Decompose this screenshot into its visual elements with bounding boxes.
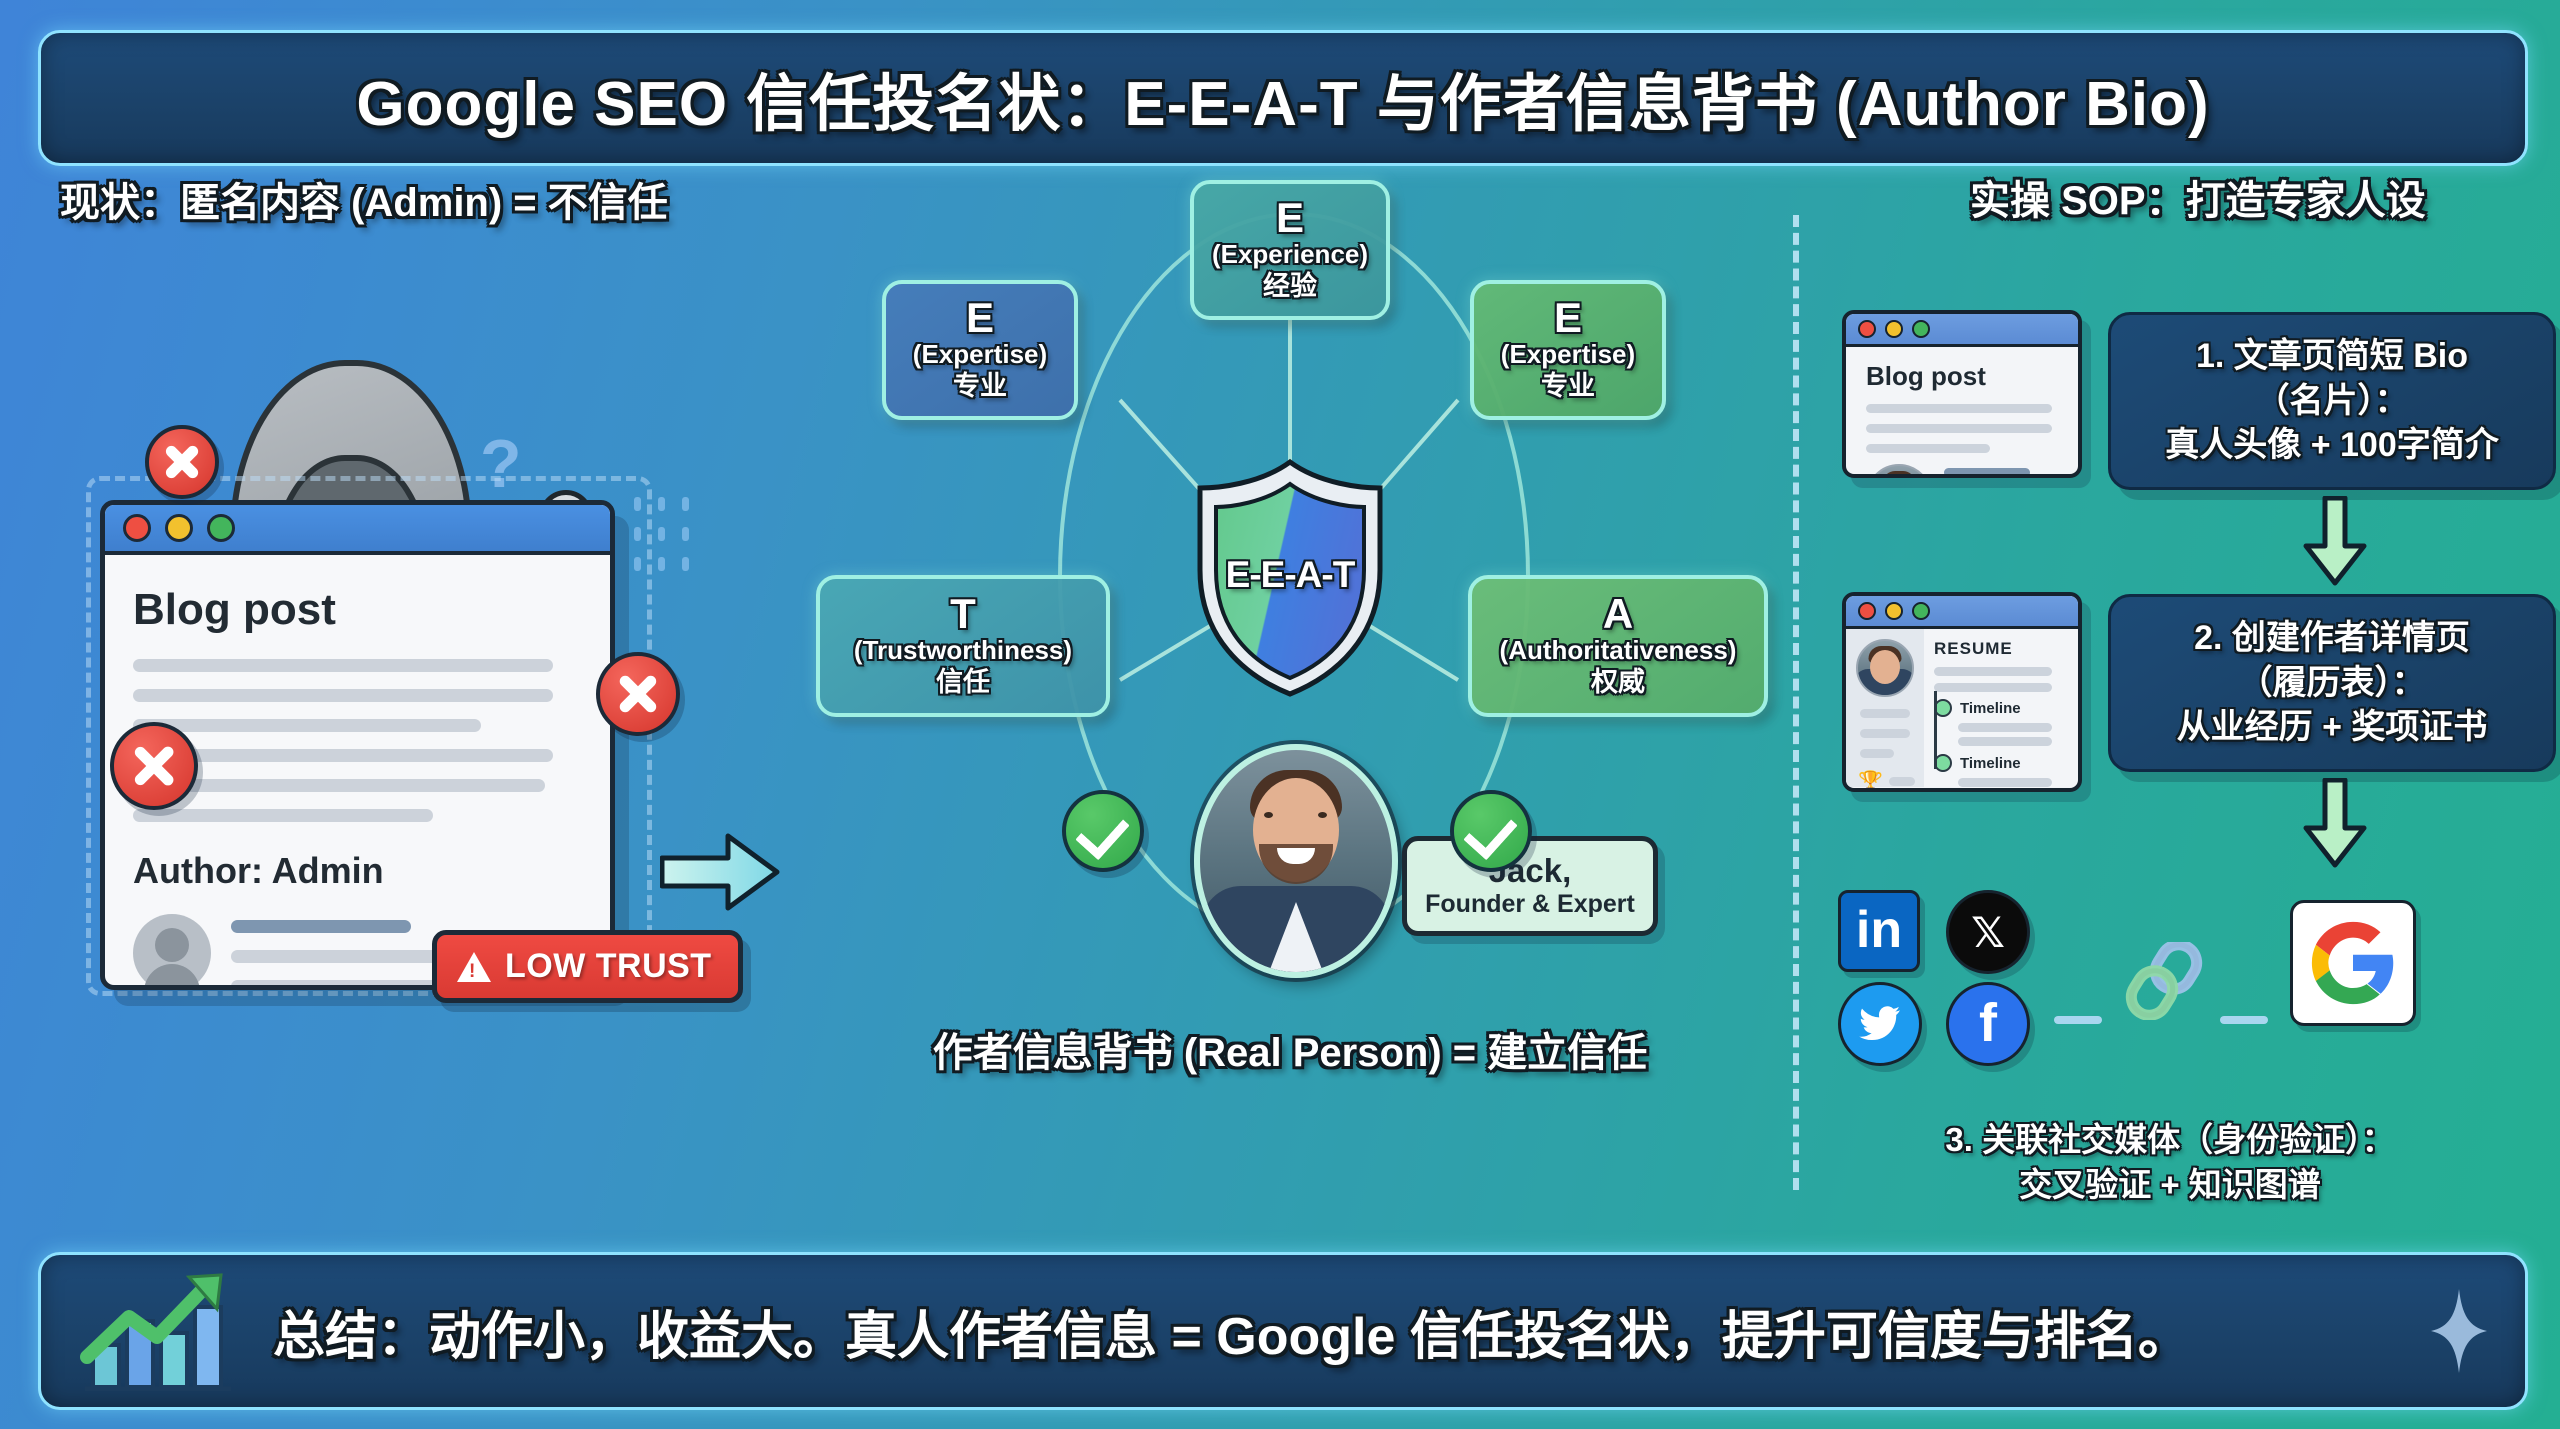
- mock-blog-post-window[interactable]: Blog post: [1842, 310, 2082, 478]
- blog-body-lines: [133, 659, 610, 822]
- dash-connector: [2220, 1016, 2268, 1024]
- sop-step-line: 2. 创建作者详情页: [2194, 616, 2470, 661]
- window-minimize-dot[interactable]: [1885, 602, 1903, 620]
- window-minimize-dot[interactable]: [165, 514, 193, 542]
- sop-step-line: （名片）：: [2256, 379, 2409, 424]
- window-maximize-dot[interactable]: [207, 514, 235, 542]
- dash-connector: [2054, 1016, 2102, 1024]
- linkedin-icon[interactable]: in: [1838, 890, 1920, 972]
- twitter-icon[interactable]: [1838, 982, 1922, 1066]
- node-cn-label: 经验: [1263, 270, 1317, 302]
- growth-chart-icon: [71, 1271, 241, 1391]
- sparkle-icon: [2431, 1289, 2487, 1373]
- right-section-heading: 实操 SOP：打造专家人设: [1970, 168, 2426, 226]
- author-name: Jack,: [1417, 853, 1643, 889]
- sop-step-line: 3. 关联社交媒体（身份验证）：: [1800, 1118, 2540, 1163]
- sop-step-line: （履历表）：: [2239, 661, 2426, 706]
- x-label: 𝕏: [1971, 908, 2005, 957]
- node-expertise-right[interactable]: E (Expertise) 专业: [1470, 280, 1666, 420]
- sop-step-1[interactable]: 1. 文章页简短 Bio （名片）： 真人头像 + 100字简介: [2108, 312, 2556, 490]
- left-panel-current-state: 现状：匿名内容 (Admin) = 不信任 ? ?: [0, 190, 790, 1200]
- node-en-label: (Expertise): [913, 340, 1047, 370]
- node-en-label: (Expertise): [1501, 340, 1635, 370]
- arrow-down-icon: [2300, 778, 2370, 868]
- arrow-right-icon: [660, 830, 780, 914]
- arrow-down-icon: [2300, 496, 2370, 586]
- sop-step-line: 真人头像 + 100字简介: [2165, 423, 2498, 468]
- window-titlebar: [1846, 596, 2078, 629]
- status-badge-low-trust: LOW TRUST: [432, 930, 743, 1003]
- node-cn-label: 权威: [1591, 666, 1645, 698]
- center-panel-eeat-diagram: E (Experience) 经验 E (Expertise) 专业 E (Ex…: [790, 190, 1790, 1200]
- sop-step-2[interactable]: 2. 创建作者详情页 （履历表）： 从业经历 + 奖项证书: [2108, 594, 2556, 772]
- window-minimize-dot[interactable]: [1885, 320, 1903, 338]
- check-mark-icon: [1062, 790, 1144, 872]
- node-letter: A: [1603, 593, 1633, 636]
- node-cn-label: 专业: [1541, 370, 1595, 402]
- sop-step-line: 1. 文章页简短 Bio: [2196, 334, 2468, 379]
- shield-icon: E-E-A-T: [1190, 458, 1390, 698]
- window-titlebar: [1846, 314, 2078, 347]
- linkedin-label: in: [1856, 910, 1902, 952]
- warning-triangle-icon: [457, 952, 491, 982]
- author-role: Founder & Expert: [1417, 889, 1643, 919]
- node-letter: E: [1276, 197, 1304, 240]
- timeline-label: Timeline: [1960, 755, 2021, 772]
- left-section-heading: 现状：匿名内容 (Admin) = 不信任: [60, 170, 668, 228]
- google-icon[interactable]: [2290, 900, 2416, 1026]
- window-close-dot[interactable]: [123, 514, 151, 542]
- shield-label: E-E-A-T: [1190, 554, 1390, 596]
- window-close-dot[interactable]: [1858, 602, 1876, 620]
- summary-bar: 总结：动作小，收益大。真人作者信息 = Google 信任投名状，提升可信度与排…: [38, 1252, 2528, 1410]
- mock-author-avatar: [1866, 464, 1932, 478]
- x-mark-icon: [110, 722, 198, 810]
- sop-step-3: 3. 关联社交媒体（身份验证）： 交叉验证 + 知识图谱: [1800, 1118, 2540, 1207]
- node-experience[interactable]: E (Experience) 经验: [1190, 180, 1390, 320]
- sop-step-line: 从业经历 + 奖项证书: [2177, 705, 2488, 750]
- page-title: Google SEO 信任投名状：E-E-A-T 与作者信息背书 (Author…: [356, 53, 2209, 143]
- avatar: [133, 914, 211, 990]
- right-panel-sop: 实操 SOP：打造专家人设 Blog post 1. 文章页简短: [1800, 190, 2560, 1200]
- node-letter: E: [966, 297, 994, 340]
- mock-window-title: Blog post: [1866, 361, 2078, 392]
- mock-resume-avatar: [1856, 639, 1914, 697]
- mock-resume-window[interactable]: 🏆 🎖 RESUME Timeline: [1842, 592, 2082, 792]
- node-en-label: (Authoritativeness): [1500, 636, 1737, 666]
- window-maximize-dot[interactable]: [1912, 602, 1930, 620]
- blog-post-title: Blog post: [133, 585, 610, 635]
- blog-author-label: Author: Admin: [133, 850, 610, 892]
- author-name-card: Jack, Founder & Expert: [1402, 836, 1658, 936]
- resume-title: RESUME: [1934, 639, 2070, 659]
- panel-divider: [1793, 215, 1799, 1190]
- x-mark-icon: [145, 425, 219, 499]
- node-expertise-left[interactable]: E (Expertise) 专业: [882, 280, 1078, 420]
- node-authoritativeness[interactable]: A (Authoritativeness) 权威: [1468, 575, 1768, 717]
- trophy-icon: 🏆: [1858, 769, 1883, 792]
- node-en-label: (Trustworthiness): [854, 636, 1072, 666]
- sop-step-line: 交叉验证 + 知识图谱: [1800, 1163, 2540, 1208]
- title-banner: Google SEO 信任投名状：E-E-A-T 与作者信息背书 (Author…: [38, 30, 2528, 166]
- x-icon[interactable]: 𝕏: [1946, 890, 2030, 974]
- facebook-icon[interactable]: f: [1946, 982, 2030, 1066]
- check-mark-icon: [1450, 790, 1532, 872]
- timeline-label: Timeline: [1960, 700, 2021, 717]
- node-letter: E: [1554, 297, 1582, 340]
- node-letter: T: [950, 593, 976, 636]
- node-cn-label: 信任: [936, 666, 990, 698]
- summary-text: 总结：动作小，收益大。真人作者信息 = Google 信任投名状，提升可信度与排…: [273, 1294, 2190, 1369]
- node-en-label: (Experience): [1212, 240, 1368, 270]
- window-close-dot[interactable]: [1858, 320, 1876, 338]
- x-mark-icon: [596, 652, 680, 736]
- link-chain-icon: [2122, 942, 2208, 1020]
- node-cn-label: 专业: [953, 370, 1007, 402]
- facebook-label: f: [1979, 1001, 1997, 1047]
- social-proof-group: in 𝕏 f: [1800, 880, 2560, 1180]
- author-photo: [1194, 744, 1398, 978]
- node-trustworthiness[interactable]: T (Trustworthiness) 信任: [816, 575, 1110, 717]
- window-titlebar: [105, 505, 610, 555]
- status-badge-label: LOW TRUST: [505, 947, 712, 986]
- window-maximize-dot[interactable]: [1912, 320, 1930, 338]
- center-caption: 作者信息背书 (Real Person) = 建立信任: [790, 1020, 1790, 1078]
